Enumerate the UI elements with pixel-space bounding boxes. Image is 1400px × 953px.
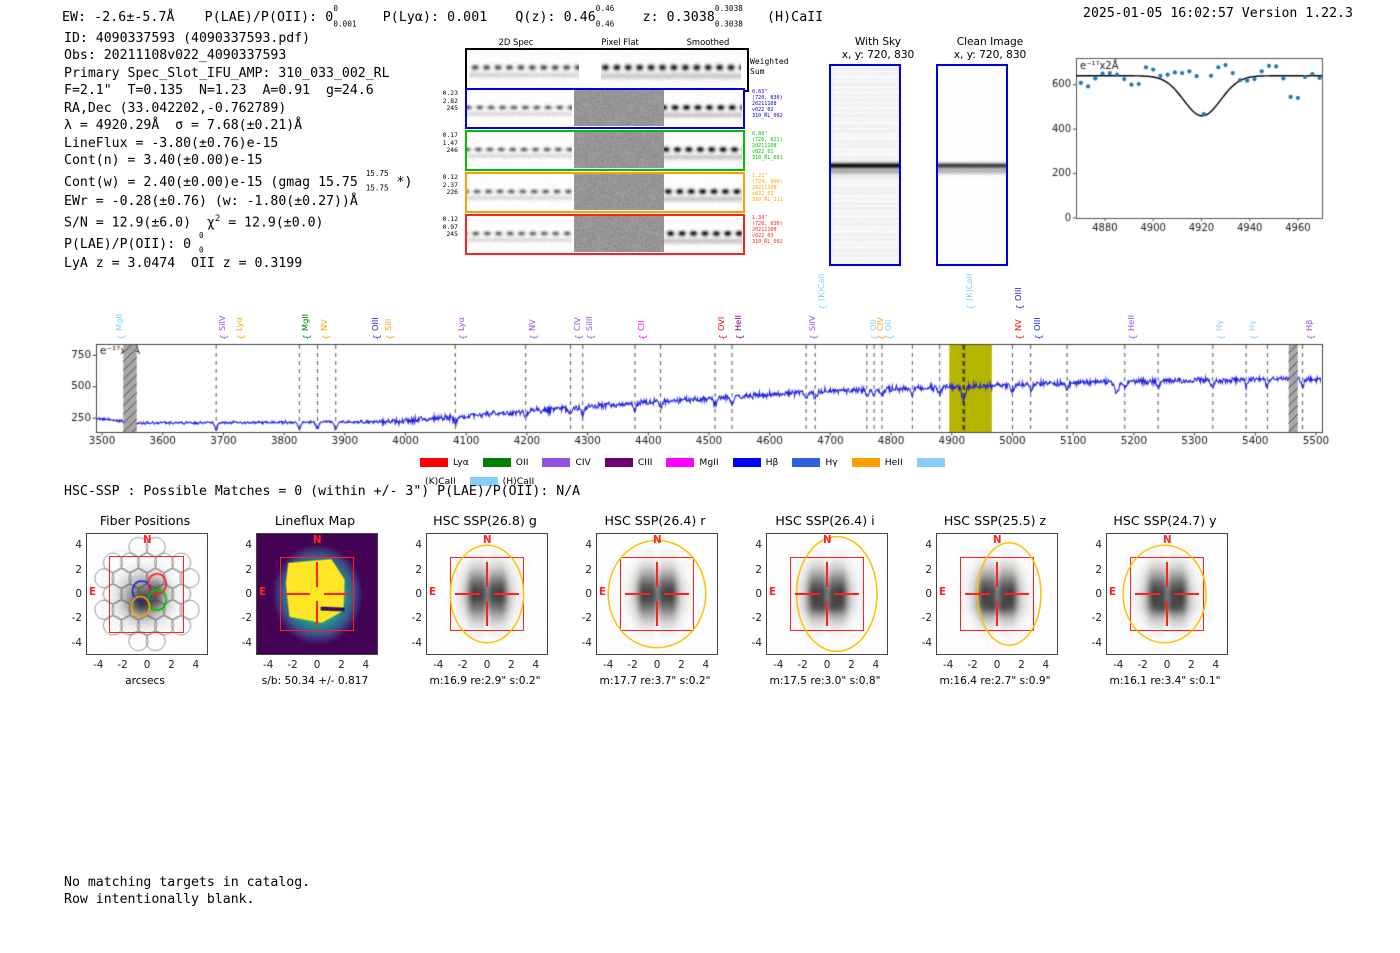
hsc-y-tick: -4 [744,637,762,649]
legend-swatch [666,458,694,467]
with-sky-title: With Sky x, y: 720, 830 [823,36,933,61]
spec2d-col-title-2dspec: 2D Spec [476,37,556,47]
spectrum-line-brace: { [886,334,896,340]
hsc-panel-footer: m:16.1 re:3.4" s:0.1" [1074,675,1256,687]
legend-swatch [420,458,448,467]
spectrum-line-label: Hβ [1304,320,1314,331]
hsc-y-tick: 0 [574,588,592,600]
hsc-x-tick: 4 [358,659,374,671]
hsc-x-tick: 0 [1159,659,1175,671]
spectrum-line-label: Hγ [1214,320,1224,331]
spectrum-line-brace: { [530,334,540,340]
hsc-y-tick: -2 [574,612,592,624]
legend-swatch [733,458,761,467]
hsc-y-tick: 2 [574,564,592,576]
bottom-note: No matching targets in catalog. Row inte… [64,874,310,909]
spectrum-line-label: HeII [733,315,743,331]
hsc-y-tick: -2 [914,612,932,624]
hsc-y-tick: 4 [744,539,762,551]
spectrum-legend: LyαOIICIVCIIIMgIIHβHγHeII(K)CaII(H)CaII [420,452,980,468]
spectrum-line-label: OIII [370,317,380,331]
spectrum-line-brace: { [1016,304,1026,310]
hsc-y-tick: -2 [404,612,422,624]
hsc-y-tick: 0 [234,588,252,600]
spectrum-line-brace: { [220,334,230,340]
spectrum-line-brace: { [1016,334,1026,340]
hsc-x-tick: 2 [333,659,349,671]
line-profile-plot [1030,50,1330,265]
hsc-panel-title: HSC SSP(25.5) z [910,513,1080,528]
with-sky-subtitle: x, y: 720, 830 [842,49,915,61]
spec2d-col-title-pixelflat: Pixel Flat [580,37,660,47]
hsc-x-tick: -2 [625,659,641,671]
spectrum-line-label: SiIII [584,316,594,331]
hsc-x-tick: 0 [989,659,1005,671]
hsc-x-tick: 0 [139,659,155,671]
spectrum-line-label: CII [636,320,646,331]
spectrum-line-label: OVI [716,317,726,331]
weighted-sum-label: Weighted Sum [750,57,789,76]
spectrum-line-label: Lyα [456,317,466,331]
hsc-y-tick: -4 [574,637,592,649]
hsc-y-tick: -4 [404,637,422,649]
hsc-x-tick: -2 [1135,659,1151,671]
spec2d-exposure-panel [465,130,745,171]
spectrum-line-label: OII [883,320,893,331]
hsc-x-tick: -4 [1110,659,1126,671]
hsc-panel-image [86,533,208,655]
spec2d-row-metrics: 0.12 0.97 245 [418,216,458,239]
hsc-x-tick: -2 [965,659,981,671]
spectrum-line-label: SiII [383,319,393,331]
hsc-y-tick: -4 [914,637,932,649]
hsc-x-tick: 2 [503,659,519,671]
hsc-x-tick: 4 [528,659,544,671]
spectrum-line-brace: { [459,334,469,340]
hsc-y-tick: 2 [1084,564,1102,576]
spec2d-row-meta: 1.21" (724, 999) 20211108 v022_03 310_RL… [752,174,783,204]
spectrum-line-label: OIII [1013,287,1023,301]
hsc-panel-image [596,533,718,655]
hsc-y-tick: -2 [1084,612,1102,624]
legend-label: HeII [885,457,903,468]
clean-image-subtitle: x, y: 720, 830 [954,49,1027,61]
hsc-panel-title: HSC SSP(24.7) y [1080,513,1250,528]
spectrum-line-brace: { [967,304,977,310]
hsc-y-tick: 0 [914,588,932,600]
spectrum-line-brace: { [303,334,313,340]
full-spectrum-plot: {MgII{SiIV{Lyα{MgII{NV{OIII{SiII{Lyα{NV{… [60,272,1360,472]
hsc-panel-footer: s/b: 50.34 +/- 0.817 [224,675,406,687]
hsc-x-tick: -4 [430,659,446,671]
legend-swatch [605,458,633,467]
hsc-y-tick: 4 [1084,539,1102,551]
hsc-y-tick: -2 [234,612,252,624]
hsc-y-tick: 2 [64,564,82,576]
hsc-panel-image [426,533,548,655]
hsc-x-tick: 4 [698,659,714,671]
spectrum-line-label: CIV [572,317,582,331]
legend-label: Hβ [766,457,779,468]
legend-swatch [542,458,570,467]
legend-swatch [852,458,880,467]
hsc-y-tick: -4 [234,637,252,649]
hsc-x-tick: 2 [1013,659,1029,671]
hsc-x-tick: -2 [795,659,811,671]
spectrum-line-brace: { [373,334,383,340]
hsc-x-tick: 2 [163,659,179,671]
spectrum-line-brace: { [575,334,585,340]
hsc-panel-footer: m:17.7 re:3.7" s:0.2" [564,675,746,687]
with-sky-cutout [829,64,901,266]
hsc-y-tick: 0 [404,588,422,600]
hsc-y-tick: -2 [64,612,82,624]
hsc-panel-image [766,533,888,655]
hsc-x-tick: 2 [673,659,689,671]
hsc-panel-image [1106,533,1228,655]
spectrum-line-label: SiIV [807,316,817,332]
hsc-panel-image [936,533,1058,655]
hsc-panel-footer: m:17.5 re:3.0" s:0.8" [734,675,916,687]
legend-swatch [917,458,945,467]
legend-label: OII [516,457,529,468]
hsc-panel-footer: m:16.9 re:2.9" s:0.2" [394,675,576,687]
hsc-y-tick: 0 [64,588,82,600]
hsc-y-tick: 4 [914,539,932,551]
spectrum-line-brace: { [810,334,820,340]
spectrum-line-label: NV [319,319,329,331]
hsc-panel-image [256,533,378,655]
hsc-y-tick: 2 [404,564,422,576]
spec2d-col-title-smoothed: Smoothed [668,37,748,47]
hsc-y-tick: 0 [744,588,762,600]
spectrum-line-label: (K)CaII [964,274,974,301]
clean-image-title-text: Clean Image [957,36,1024,48]
hsc-x-tick: 0 [819,659,835,671]
spectrum-line-brace: { [819,304,829,310]
spectrum-line-brace: { [1250,334,1260,340]
hsc-x-tick: -2 [115,659,131,671]
hsc-x-tick: 0 [649,659,665,671]
spectrum-line-brace: { [237,334,247,340]
spectrum-line-label: NV [1013,319,1023,331]
spectrum-line-label: SiIV [217,316,227,332]
hsc-section-header: HSC-SSP : Possible Matches = 0 (within +… [64,484,580,499]
hsc-panel-title: HSC SSP(26.4) i [740,513,910,528]
legend-label: CIII [638,457,653,468]
hsc-y-tick: 2 [234,564,252,576]
legend-swatch [792,458,820,467]
spec2d-row-metrics: 0.23 2.82 245 [418,90,458,113]
spectrum-line-brace: { [719,334,729,340]
hsc-panel-title: Lineflux Map [230,513,400,528]
legend-label: Hγ [825,457,837,468]
hsc-x-tick: 4 [1208,659,1224,671]
spectrum-line-brace: { [1035,334,1045,340]
hsc-x-tick: 4 [868,659,884,671]
hsc-x-tick: -4 [260,659,276,671]
spectrum-line-label: (K)CaII [816,274,826,301]
hsc-y-tick: 4 [574,539,592,551]
hsc-y-tick: -2 [744,612,762,624]
hsc-panel-footer: arcsecs [54,675,236,687]
spec2d-row-meta: 1.34" (720, 830) 20211108 v022_03 310_RL… [752,216,783,246]
spectrum-line-label: Lyα [234,317,244,331]
clean-image-cutout [936,64,1008,266]
hsc-y-tick: -4 [1084,637,1102,649]
hsc-x-tick: 2 [1183,659,1199,671]
spectrum-line-brace: { [117,334,127,340]
spectrum-line-brace: { [736,334,746,340]
hsc-y-tick: 4 [404,539,422,551]
spectrum-line-brace: { [322,334,332,340]
spectrum-line-brace: { [386,334,396,340]
hsc-x-tick: 2 [843,659,859,671]
hsc-panel-title: HSC SSP(26.8) g [400,513,570,528]
spectrum-line-label: HeII [1126,315,1136,331]
hsc-panel-title: Fiber Positions [60,513,230,528]
legend-label: MgII [699,457,718,468]
spec2d-row-meta: 0.63" (720, 830) 20211108 v022_02 310_RL… [752,90,783,120]
hsc-y-tick: 4 [234,539,252,551]
hsc-x-tick: -4 [940,659,956,671]
hsc-panel-footer: m:16.4 re:2.7" s:0.9" [904,675,1086,687]
spectrum-line-brace: { [639,334,649,340]
legend-label: CIV [575,457,590,468]
hsc-y-tick: 4 [64,539,82,551]
spec2d-row-meta: 0.89" (720, 821) 20211108 v022_01 310_RL… [752,132,783,162]
spec2d-exposure-panel [465,214,745,255]
hsc-y-tick: 2 [914,564,932,576]
spectrum-line-brace: { [1129,334,1139,340]
hsc-x-tick: -2 [285,659,301,671]
spectrum-line-label: MgII [300,314,310,331]
hsc-x-tick: -4 [770,659,786,671]
spec2d-row-metrics: 0.12 2.37 226 [418,174,458,197]
spectrum-line-brace: { [1217,334,1227,340]
spec2d-row-metrics: 0.17 1.47 246 [418,132,458,155]
hsc-x-tick: 0 [479,659,495,671]
spec2d-exposure-panel [465,172,745,213]
spectrum-line-label: OIII [1032,317,1042,331]
hsc-panel-title: HSC SSP(26.4) r [570,513,740,528]
hsc-x-tick: -2 [455,659,471,671]
spectrum-line-brace: { [587,334,597,340]
spectrum-line-label: MgII [114,314,124,331]
hsc-x-tick: 4 [188,659,204,671]
hsc-y-tick: 0 [1084,588,1102,600]
spectrum-line-brace: { [1307,334,1317,340]
with-sky-title-text: With Sky [855,36,901,48]
legend-label: Lyα [453,457,469,468]
spectrum-line-label: NV [527,319,537,331]
hsc-x-tick: 4 [1038,659,1054,671]
hsc-x-tick: -4 [600,659,616,671]
weighted-sum-panel [465,48,749,92]
hsc-x-tick: 0 [309,659,325,671]
spectrum-line-label: Hγ [1247,320,1257,331]
legend-swatch [483,458,511,467]
spec2d-exposure-panel [465,88,745,129]
hsc-y-tick: 2 [744,564,762,576]
hsc-y-tick: -4 [64,637,82,649]
hsc-x-tick: -4 [90,659,106,671]
